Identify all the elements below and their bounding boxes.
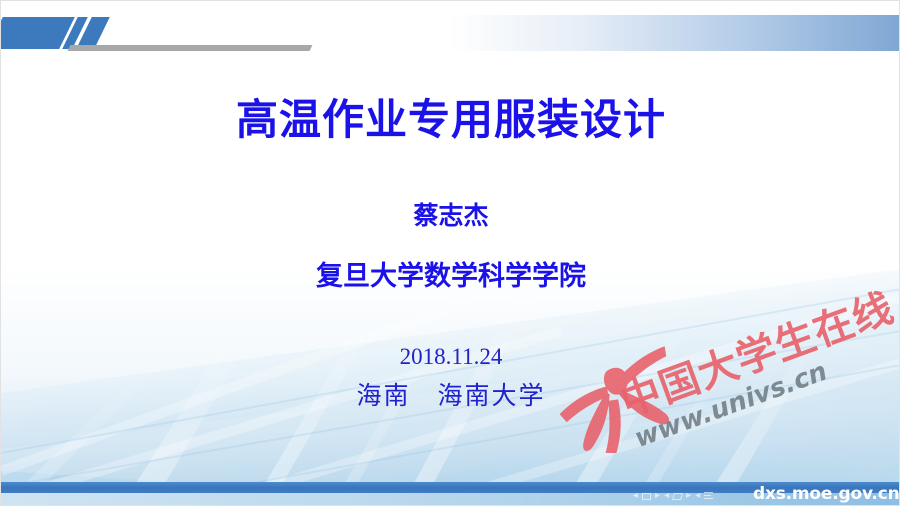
nav-left-arrow-icon-3: ◂ (695, 491, 700, 501)
nav-left-arrow-icon-2: ◂ (664, 491, 669, 501)
nav-right-arrow-icon: ▸ (655, 491, 660, 501)
footer-nav-glyphs: ◂ ▸ ◂ ▸ ◂ (633, 486, 713, 506)
header-gray-rule (68, 45, 313, 51)
nav-lines-icon (704, 492, 713, 500)
nav-right-arrow-icon-2: ▸ (686, 491, 691, 501)
presentation-slide: 高温作业专用服装设计 蔡志杰 复旦大学数学科学学院 2018.11.24 海南 … (0, 0, 900, 506)
author-name: 蔡志杰 (1, 196, 900, 232)
header-gradient-band (449, 15, 900, 51)
footer-site-url: dxs.moe.gov.cn (753, 484, 899, 504)
nav-left-arrow-icon: ◂ (633, 491, 638, 501)
presentation-date: 2018.11.24 (1, 344, 900, 370)
nav-parallelogram-icon (672, 493, 683, 500)
presentation-venue: 海南 海南大学 (1, 376, 900, 412)
page-title: 高温作业专用服装设计 (1, 97, 900, 143)
nav-square-icon (642, 493, 651, 500)
author-affiliation: 复旦大学数学科学学院 (1, 254, 900, 293)
